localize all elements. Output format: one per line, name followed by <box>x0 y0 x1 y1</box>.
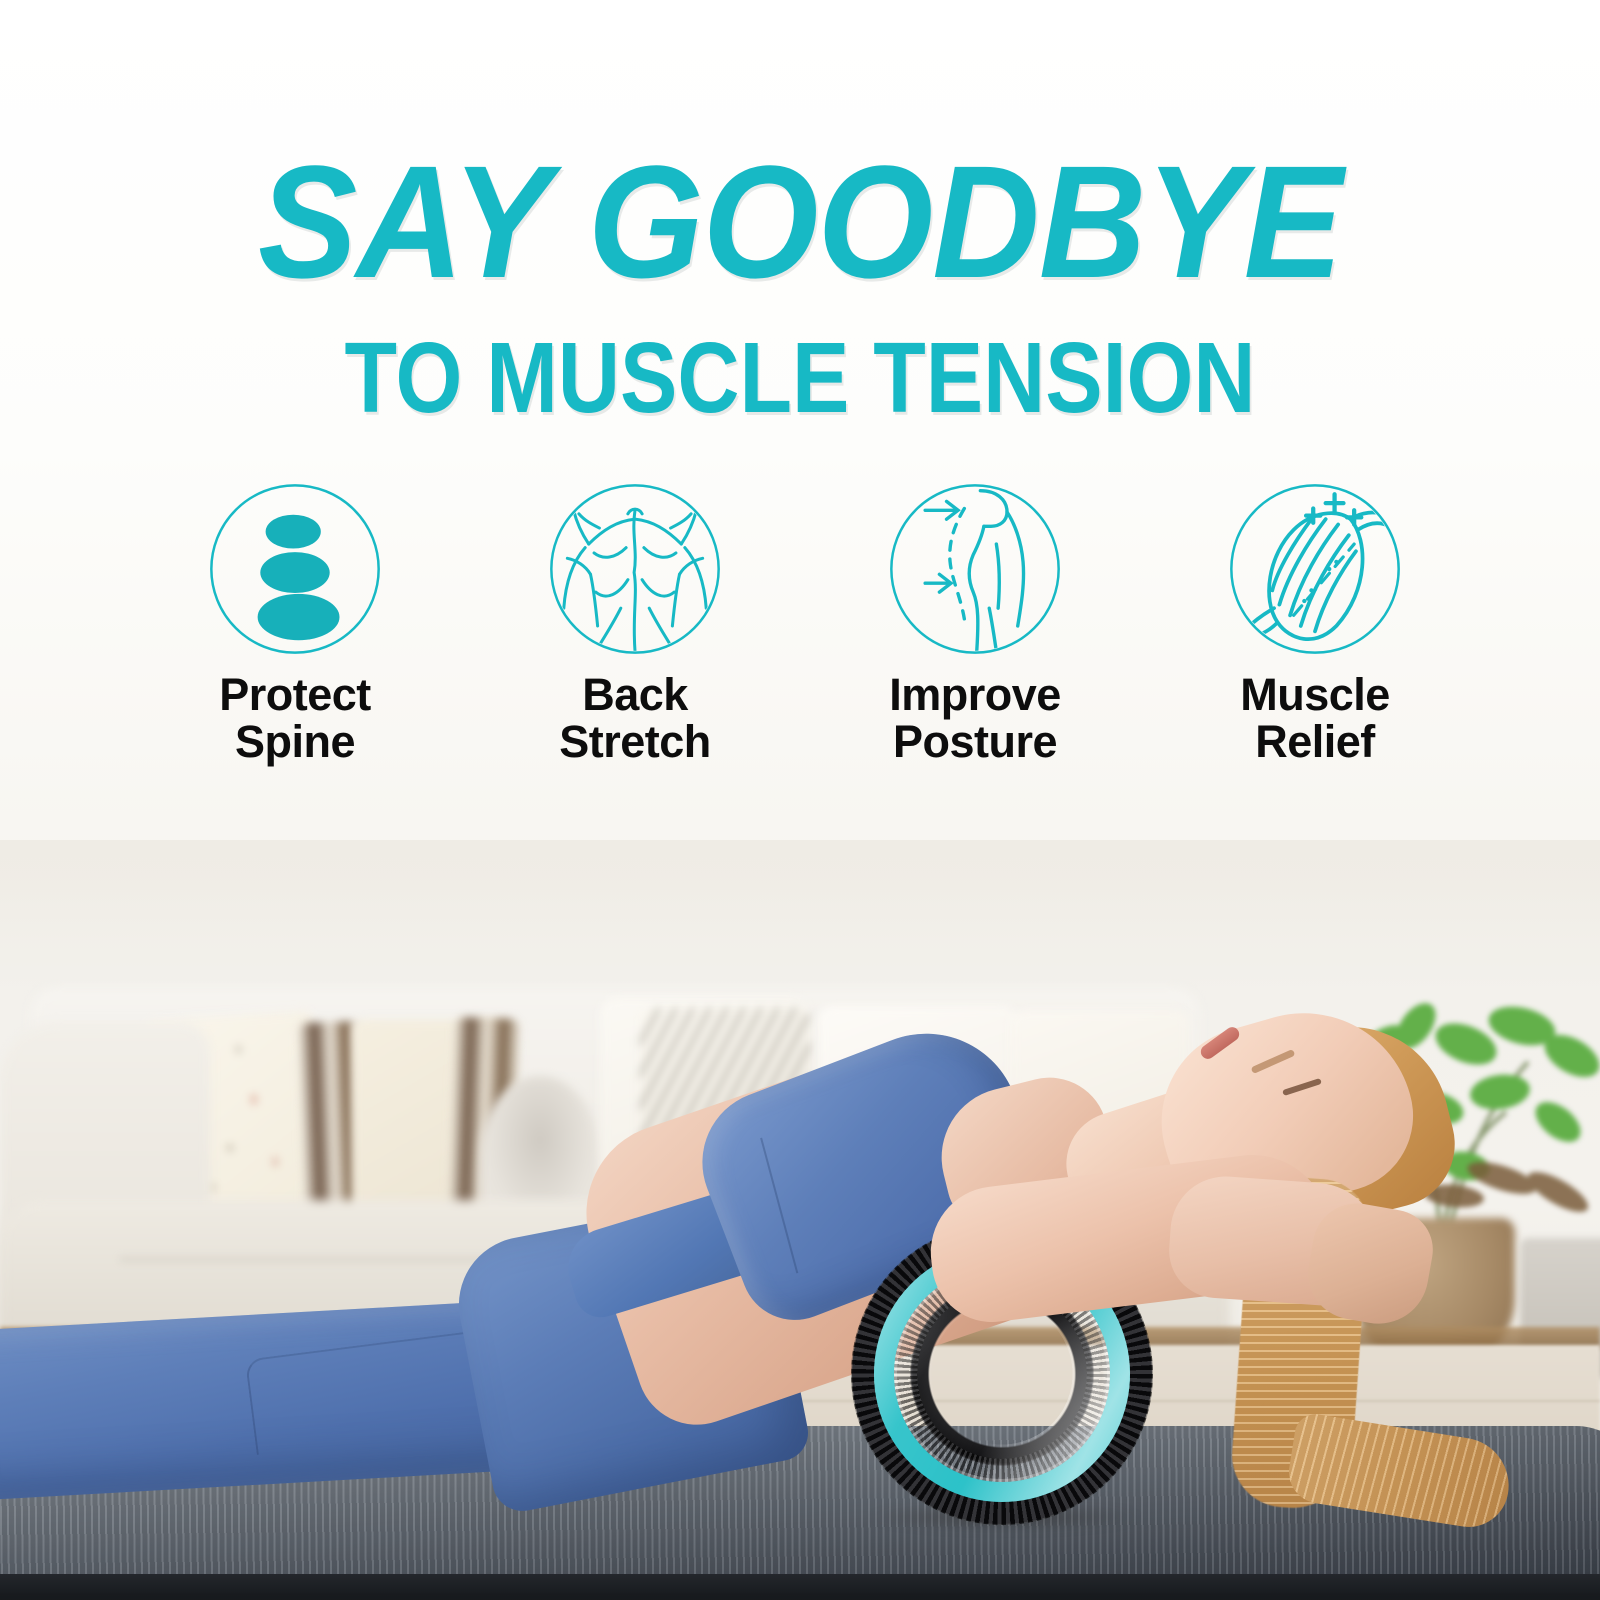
feature-item-improve-posture: Improve Posture <box>825 480 1125 766</box>
back-muscles-icon <box>546 480 724 658</box>
headline-block: SAY GOODBYE TO MUSCLE TENSION <box>0 0 1600 430</box>
product-banner: SAY GOODBYE TO MUSCLE TENSION Protect Sp… <box>0 0 1600 1600</box>
feature-label-protect-spine: Protect Spine <box>219 672 371 766</box>
spine-vertebrae-icon <box>206 480 384 658</box>
feature-label-improve-posture: Improve Posture <box>889 672 1061 766</box>
muscle-fiber-icon <box>1226 480 1404 658</box>
feature-item-protect-spine: Protect Spine <box>145 480 445 766</box>
yoga-mat-edge <box>0 1574 1600 1600</box>
feature-label-back-stretch: Back Stretch <box>559 672 711 766</box>
leggings-seam <box>245 1330 495 1455</box>
product-lifestyle-photo <box>0 840 1600 1600</box>
headline-secondary: TO MUSCLE TENSION <box>112 328 1488 428</box>
feature-label-muscle-relief: Muscle Relief <box>1240 672 1390 766</box>
feature-list: Protect Spine <box>145 480 1465 820</box>
headline-primary: SAY GOODBYE <box>56 148 1544 295</box>
posture-silhouette-icon <box>886 480 1064 658</box>
sports-bra-seam <box>760 1138 798 1274</box>
feature-item-muscle-relief: Muscle Relief <box>1165 480 1465 766</box>
feature-item-back-stretch: Back Stretch <box>485 480 785 766</box>
